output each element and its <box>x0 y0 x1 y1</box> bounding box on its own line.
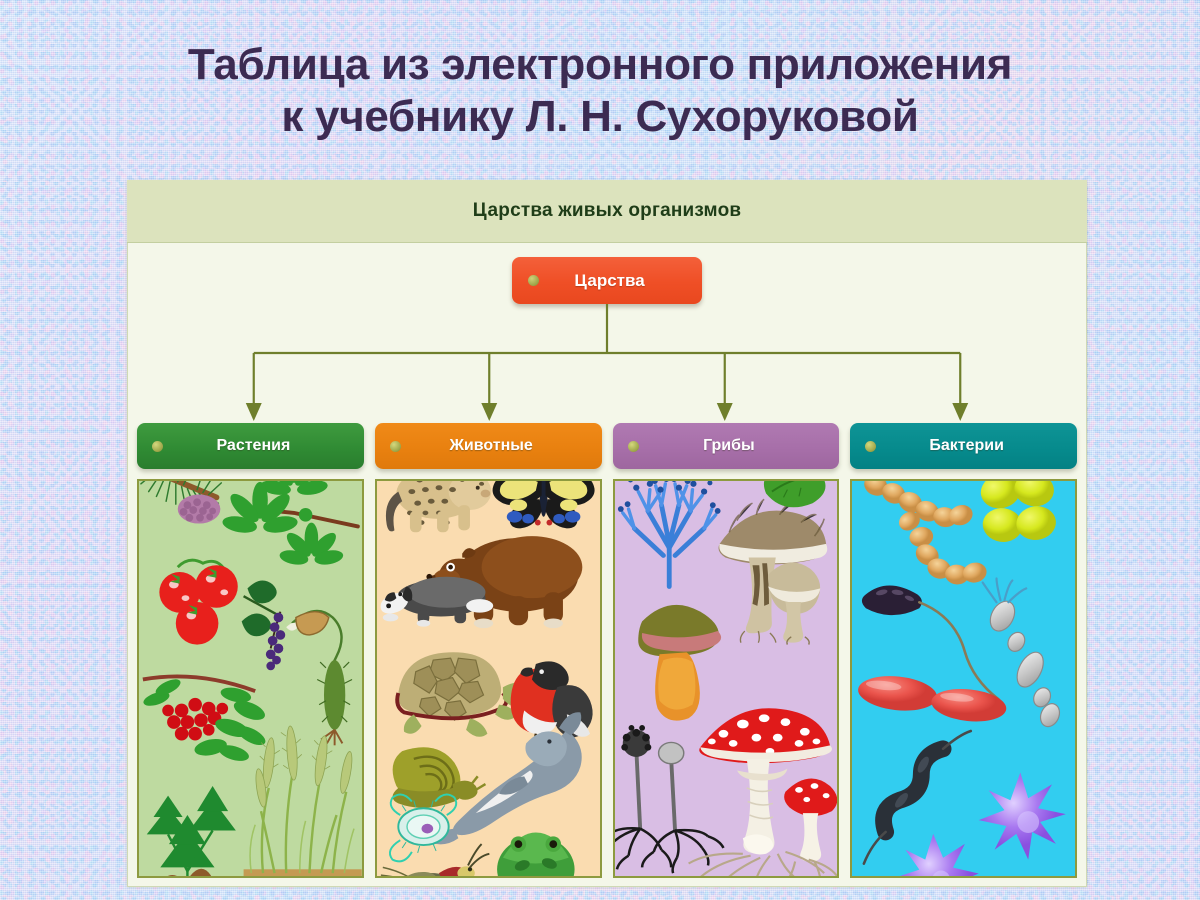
diagram-top-section: Царства <box>137 243 1077 423</box>
leopard-icon <box>386 481 491 532</box>
spirillum-icon <box>864 731 971 864</box>
penicillium-mold-icon <box>617 481 720 586</box>
chestnut-leaves-icon <box>221 481 358 567</box>
page-title: Таблица из электронного приложения к уче… <box>0 39 1200 143</box>
plants-illustration <box>139 481 362 876</box>
fungi-illustration <box>615 481 838 876</box>
sarcina-packet-icon <box>978 481 1058 544</box>
kingdom-panel-animals[interactable] <box>375 479 602 878</box>
horsetail-spike-icon <box>286 611 352 745</box>
kingdom-button-animals[interactable]: Животные <box>375 423 602 469</box>
bacteria-illustration <box>852 481 1075 876</box>
rowan-berries-icon <box>142 676 268 764</box>
brown-cap-mushrooms-icon <box>718 481 827 645</box>
frog-icon <box>479 832 591 876</box>
kingdom-button-label-animals: Животные <box>401 437 602 455</box>
kingdom-button-bacteria[interactable]: Бактерии <box>850 423 1077 469</box>
bullet-dot-icon <box>628 441 639 452</box>
kingdoms-card: Царства живых организмов Царства <box>127 180 1087 886</box>
bullet-dot-icon <box>390 441 401 452</box>
kingdom-button-label-fungi: Грибы <box>639 437 840 455</box>
page-title-line-2: к учебнику Л. Н. Сухоруковой <box>0 91 1200 143</box>
kingdom-button-label-plants: Растения <box>163 437 364 455</box>
pine-branch-with-cone-icon <box>141 481 221 524</box>
kingdom-buttons-row: Растения Животные Грибы Бактерии <box>137 423 1077 469</box>
fern-frond-icon <box>147 786 236 876</box>
card-header-title: Царства живых организмов <box>473 200 742 222</box>
animals-illustration <box>377 481 600 876</box>
bullet-dot-icon <box>152 441 163 452</box>
fly-agaric-icon <box>688 708 837 876</box>
kingdom-image-panels-row <box>137 479 1077 878</box>
kingdom-panel-bacteria[interactable] <box>850 479 1077 878</box>
page-title-line-1: Таблица из электронного приложения <box>0 39 1200 91</box>
bacillus-rod-icon <box>857 672 1008 724</box>
swallowtail-butterfly-icon <box>492 481 594 528</box>
tomato-cluster-icon <box>159 560 237 644</box>
wheat-grass-icon <box>244 725 362 876</box>
bullet-dot-icon <box>865 441 876 452</box>
kingdom-button-label-bacteria: Бактерии <box>876 437 1077 455</box>
streptococcus-chain-icon <box>861 481 989 585</box>
kingdom-button-plants[interactable]: Растения <box>137 423 364 469</box>
bullet-dot-icon <box>528 275 539 286</box>
card-body: Царства <box>127 243 1087 887</box>
root-node-kingdoms[interactable]: Царства <box>512 257 702 304</box>
kingdom-panel-plants[interactable] <box>137 479 364 878</box>
kingdom-panel-fungi[interactable] <box>613 479 840 878</box>
card-header: Царства живых организмов <box>127 180 1087 243</box>
kingdom-button-fungi[interactable]: Грибы <box>613 423 840 469</box>
boletus-mushroom-icon <box>638 605 721 721</box>
root-node-label: Царства <box>539 271 702 291</box>
currant-berries-icon <box>242 581 286 671</box>
